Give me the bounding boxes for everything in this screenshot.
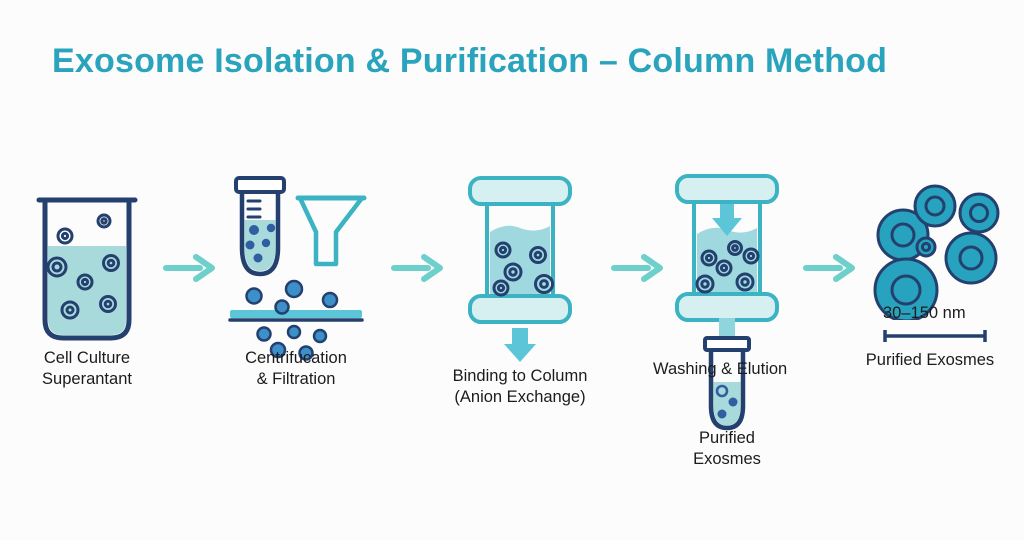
beaker-icon	[0, 170, 187, 370]
column-icon	[420, 170, 620, 370]
step-caption: Cell Culture Superantant	[0, 348, 187, 390]
step-caption: Binding to Column (Anion Exchange)	[420, 366, 620, 408]
exosome-cluster-icon	[830, 180, 1024, 320]
step-binding-to-column: Binding to Column (Anion Exchange)	[420, 170, 620, 500]
centrifuge-tube-funnel-filter-icon	[196, 170, 396, 370]
step-purified-exosomes: 30–150 nm Purified Exosmes	[830, 180, 1024, 510]
page-title: Exosome Isolation & Purification – Colum…	[52, 42, 887, 81]
step-caption: Centrifucation & Filtration	[196, 348, 396, 390]
step-washing-elution: Washing & Elution Purified Exosmes	[627, 160, 827, 490]
step-centrifugation-filtration: Centrifucation & Filtration	[196, 170, 396, 500]
step-cell-culture-supernatant: Cell Culture Superantant	[0, 170, 187, 500]
scale-label: 30–150 nm	[883, 304, 966, 323]
step-caption: Purified Exosmes	[627, 428, 827, 470]
column-elution-tube-icon	[627, 160, 827, 460]
diagram-canvas: Exosome Isolation & Purification – Colum…	[0, 0, 1024, 540]
washing-elution-label: Washing & Elution	[653, 360, 787, 379]
scale-bar-icon	[880, 328, 990, 344]
step-caption: Purified Exosmes	[830, 350, 1024, 371]
